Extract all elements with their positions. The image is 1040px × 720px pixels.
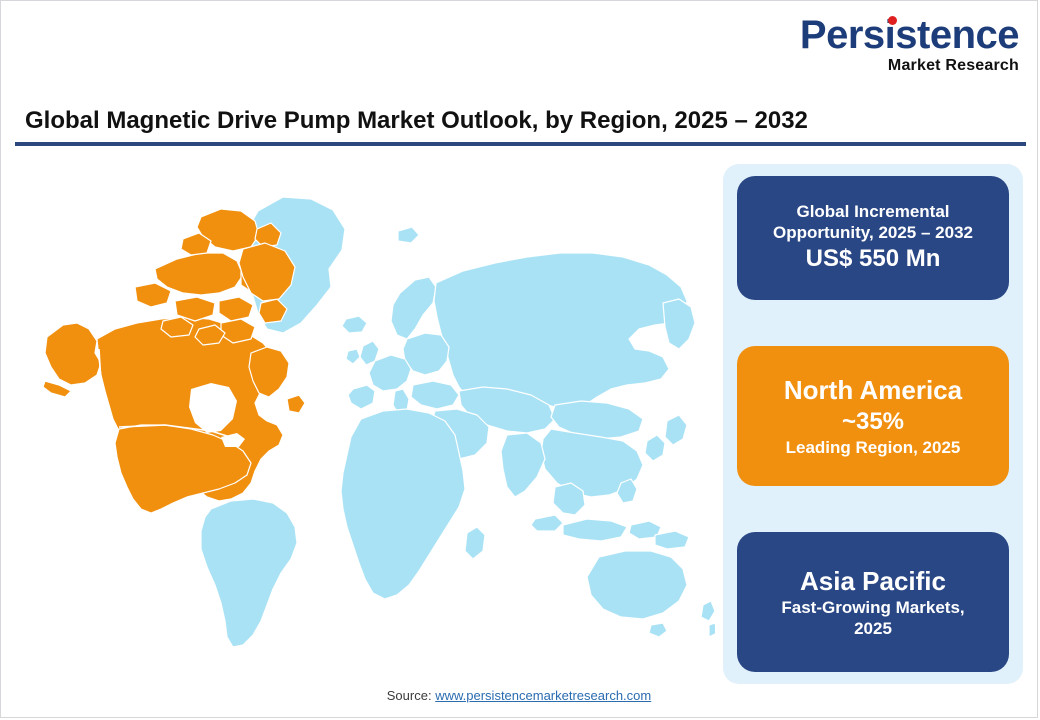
card-2-share: ~35% — [842, 407, 904, 437]
card-global-incremental-opportunity[interactable]: Global Incremental Opportunity, 2025 – 2… — [737, 176, 1009, 300]
source-label: Source: — [387, 688, 432, 703]
title-underline-rule — [15, 142, 1026, 146]
card-3-caption-line-1: Fast-Growing Markets, — [781, 597, 964, 618]
card-1-value: US$ 550 Mn — [806, 244, 941, 274]
infographic-page: Persistence Market Research Global Magne… — [0, 0, 1038, 718]
card-3-caption-line-2: 2025 — [854, 618, 892, 639]
map-highlight-north-america — [43, 209, 305, 513]
logo-wordmark: Persistence — [800, 15, 1019, 55]
card-fast-growing-market[interactable]: Asia Pacific Fast-Growing Markets, 2025 — [737, 532, 1009, 672]
card-1-line-2: Opportunity, 2025 – 2032 — [773, 223, 973, 244]
card-2-region: North America — [784, 374, 962, 407]
source-line: Source: www.persistencemarketresearch.co… — [1, 688, 1037, 703]
stats-panel: Global Incremental Opportunity, 2025 – 2… — [723, 164, 1023, 684]
card-2-caption: Leading Region, 2025 — [786, 437, 961, 458]
page-title: Global Magnetic Drive Pump Market Outloo… — [25, 107, 808, 135]
source-url-link[interactable]: www.persistencemarketresearch.com — [435, 688, 651, 703]
card-3-region: Asia Pacific — [800, 565, 946, 598]
logo-accent-dot-icon — [888, 16, 897, 25]
world-map — [15, 153, 715, 673]
company-logo: Persistence Market Research — [800, 15, 1019, 74]
logo-tagline: Market Research — [800, 58, 1019, 74]
card-1-line-1: Global Incremental — [796, 202, 949, 223]
card-leading-region[interactable]: North America ~35% Leading Region, 2025 — [737, 346, 1009, 486]
